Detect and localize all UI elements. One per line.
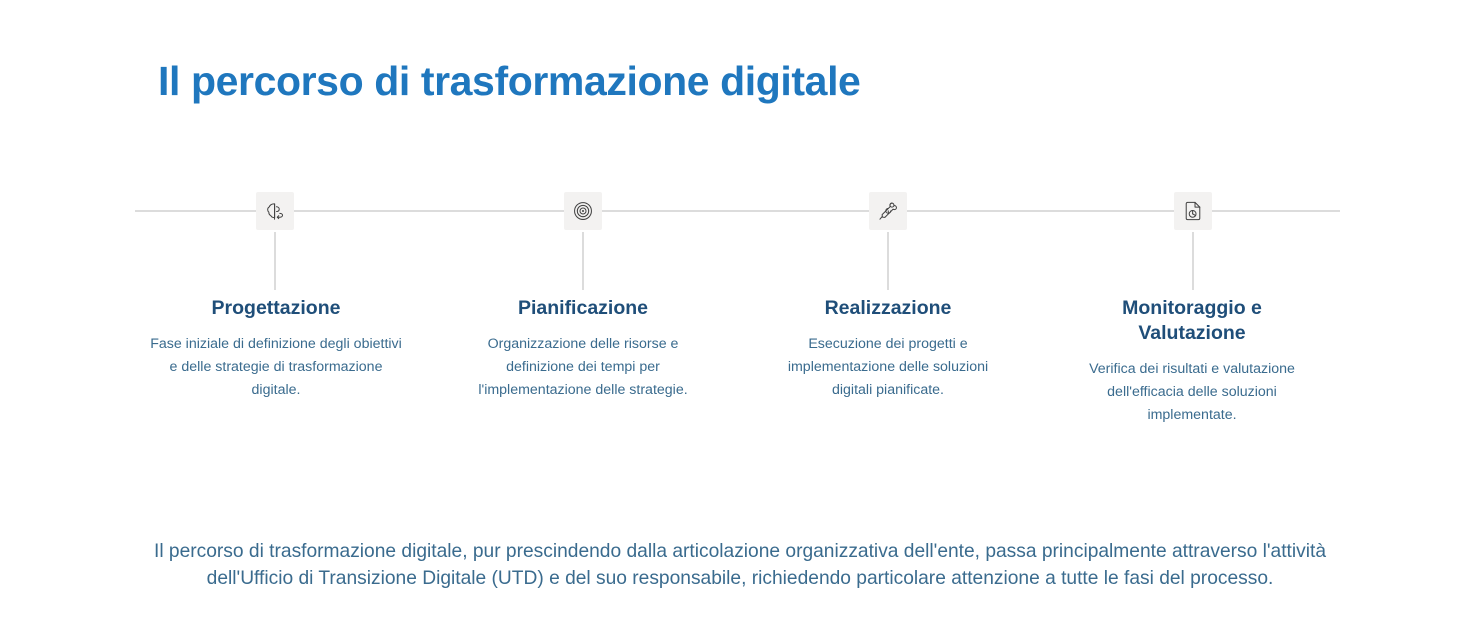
timeline-step-3: Realizzazione Esecuzione dei progetti e … (766, 296, 1010, 402)
step-description: Esecuzione dei progetti e implementazion… (766, 333, 1010, 402)
fountain-pen-icon (877, 200, 899, 222)
timeline-step-2: Pianificazione Organizzazione delle riso… (460, 296, 706, 402)
timeline-milestone-4[interactable] (1174, 192, 1212, 230)
timeline-connector-2 (582, 232, 584, 290)
brain-idea-icon (264, 200, 286, 222)
summary-paragraph: Il percorso di trasformazione digitale, … (150, 538, 1330, 593)
step-description: Verifica dei risultati e valutazione del… (1066, 358, 1318, 427)
step-description: Fase iniziale di definizione degli obiet… (148, 333, 404, 402)
timeline-milestone-2[interactable] (564, 192, 602, 230)
timeline-step-4: Monitoraggio e Valutazione Verifica dei … (1066, 296, 1318, 427)
timeline-connector-1 (274, 232, 276, 290)
timeline-axis-line (135, 210, 1340, 212)
timeline-step-1: Progettazione Fase iniziale di definizio… (148, 296, 404, 402)
step-title: Progettazione (148, 296, 404, 321)
step-description: Organizzazione delle risorse e definizio… (460, 333, 706, 402)
step-title: Pianificazione (460, 296, 706, 321)
timeline-milestone-3[interactable] (869, 192, 907, 230)
timeline-milestone-1[interactable] (256, 192, 294, 230)
step-title: Monitoraggio e Valutazione (1066, 296, 1318, 346)
timeline-connector-3 (887, 232, 889, 290)
step-title: Realizzazione (766, 296, 1010, 321)
report-document-icon (1182, 200, 1204, 222)
target-bullseye-icon (572, 200, 594, 222)
timeline-connector-4 (1192, 232, 1194, 290)
